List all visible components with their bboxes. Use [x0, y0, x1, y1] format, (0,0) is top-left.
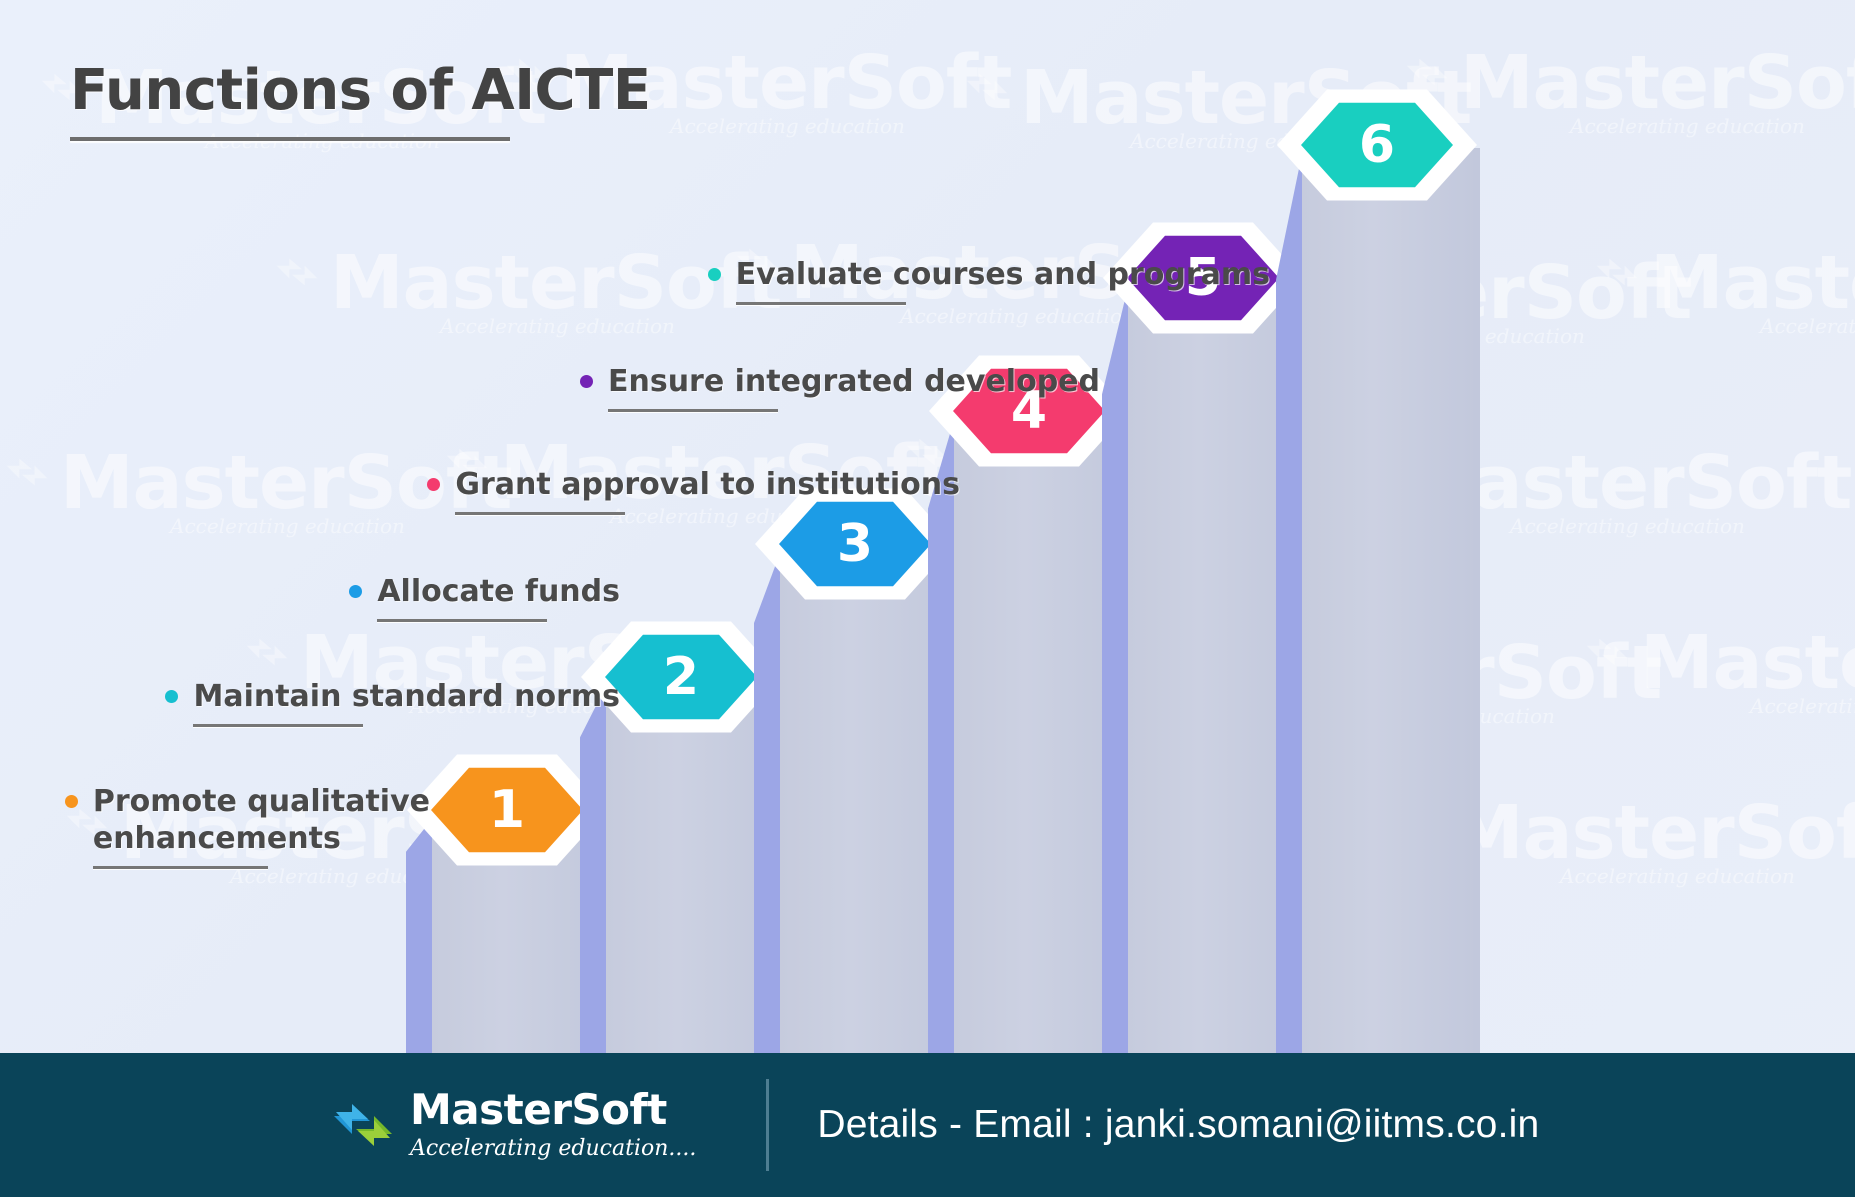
- step-label-3-bullet-icon: [349, 585, 362, 598]
- step-label-5-underline: [608, 409, 778, 412]
- step-label-4-body: Grant approval to institutions: [455, 466, 960, 515]
- step-label-2-text: Maintain standard norms: [193, 678, 620, 715]
- step-1-number: 1: [489, 784, 525, 836]
- step-label-2-body: Maintain standard norms: [193, 678, 620, 727]
- step-label-4-underline: [455, 512, 625, 515]
- footer-brand: MasterSoft Accelerating education....: [330, 1089, 696, 1161]
- step-label-1-underline: [93, 866, 268, 869]
- step-2-number: 2: [663, 651, 699, 703]
- step-label-5-text: Ensure integrated developed: [608, 363, 1100, 400]
- step-5-side-face: [1102, 287, 1128, 1053]
- logo-name: MasterSoft: [410, 1089, 696, 1131]
- step-label-3-underline: [377, 619, 547, 622]
- step-6-number: 6: [1359, 119, 1395, 171]
- step-label-5-bullet-icon: [580, 375, 593, 388]
- step-label-4: Grant approval to institutions: [427, 466, 960, 515]
- step-label-1-bullet-icon: [65, 795, 78, 808]
- step-label-3: Allocate funds: [349, 573, 620, 622]
- step-label-3-text: Allocate funds: [377, 573, 620, 610]
- step-label-1: Promote qualitative enhancements: [65, 783, 430, 869]
- step-label-5-body: Ensure integrated developed: [608, 363, 1100, 412]
- step-label-2-bullet-icon: [165, 690, 178, 703]
- footer-divider: [766, 1079, 769, 1171]
- step-label-6-bullet-icon: [708, 268, 721, 281]
- step-2-side-face: [580, 686, 606, 1053]
- logo-wordmark: MasterSoft Accelerating education....: [410, 1089, 696, 1161]
- footer-bar: MasterSoft Accelerating education.... De…: [0, 1053, 1855, 1197]
- infographic-canvas: MasterSoftAccelerating educationMasterSo…: [0, 0, 1855, 1197]
- step-label-6-underline: [736, 302, 906, 305]
- mastersoft-logo-icon: [330, 1094, 396, 1156]
- step-label-4-bullet-icon: [427, 478, 440, 491]
- step-6-front-face: [1302, 148, 1480, 1053]
- step-label-3-body: Allocate funds: [377, 573, 620, 622]
- logo-tagline: Accelerating education....: [410, 1136, 696, 1161]
- footer-details-text: Details - Email : janki.somani@iitms.co.…: [817, 1103, 1539, 1147]
- step-label-4-text: Grant approval to institutions: [455, 466, 960, 503]
- step-3-side-face: [754, 553, 780, 1053]
- step-label-6-body: Evaluate courses and programs: [736, 256, 1270, 305]
- step-label-5: Ensure integrated developed: [580, 363, 1100, 412]
- step-label-1-body: Promote qualitative enhancements: [93, 783, 430, 869]
- step-label-1-text: Promote qualitative enhancements: [93, 783, 430, 857]
- step-label-6: Evaluate courses and programs: [708, 256, 1270, 305]
- steps-staircase: 123456Promote qualitative enhancementsMa…: [0, 0, 1855, 1060]
- step-label-6-text: Evaluate courses and programs: [736, 256, 1270, 293]
- step-3-number: 3: [837, 518, 873, 570]
- step-6-side-face: [1276, 154, 1302, 1053]
- step-label-2: Maintain standard norms: [165, 678, 620, 727]
- step-label-2-underline: [193, 724, 363, 727]
